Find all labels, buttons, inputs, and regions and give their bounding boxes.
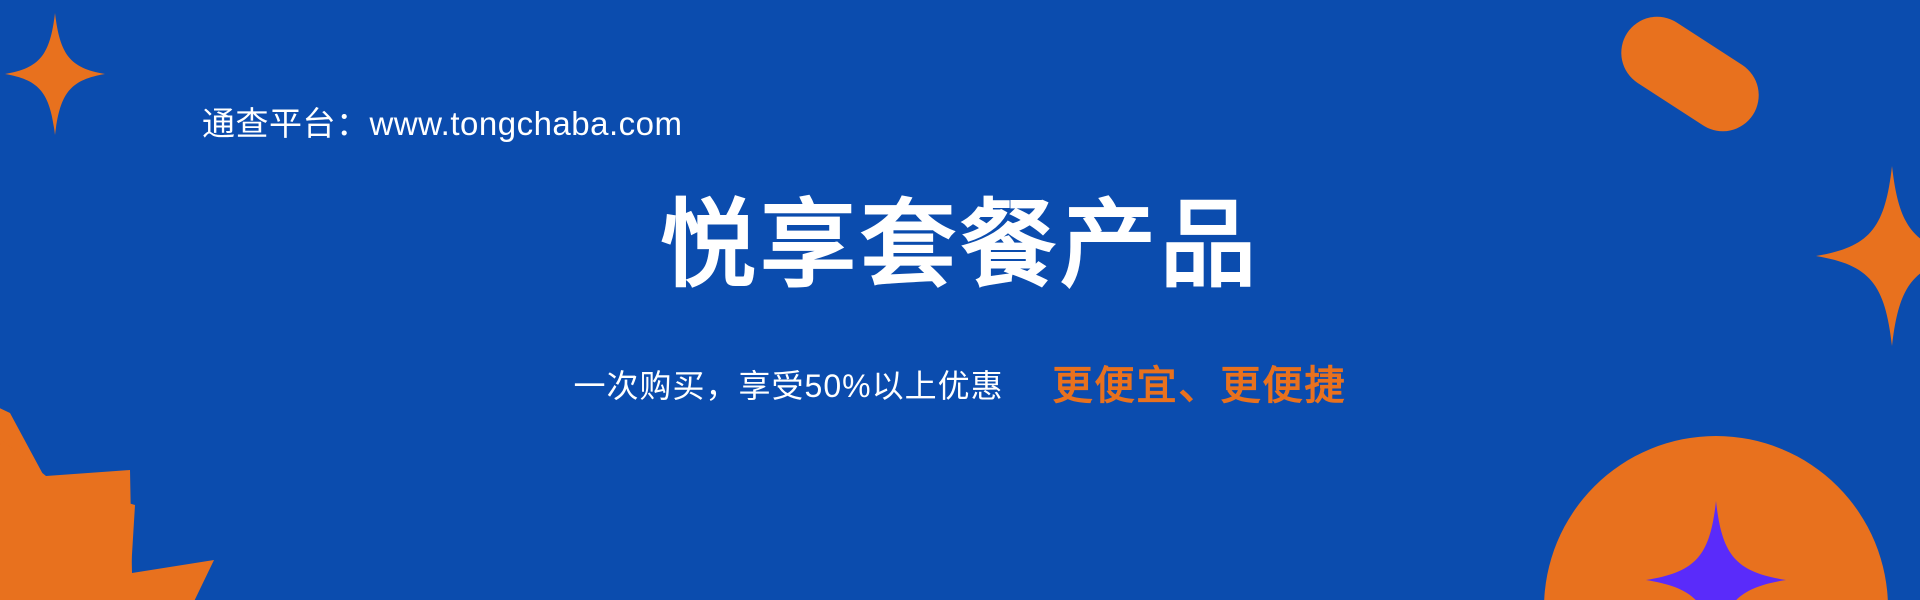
page-title: 悦享套餐产品 [0, 190, 1920, 302]
subtitle-discount-text: 一次购买，享受50%以上优惠 [574, 368, 1004, 404]
subtitle-highlight-text: 更便宜、更便捷 [1052, 364, 1346, 408]
banner-content: 通查平台：www.tongchaba.com 悦享套餐产品 一次购买，享受50%… [0, 0, 1920, 600]
subtitle-row: 一次购买，享受50%以上优惠 更便宜、更便捷 [0, 358, 1920, 414]
platform-url-label: 通查平台：www.tongchaba.com [202, 100, 683, 148]
promotional-banner: 通查平台：www.tongchaba.com 悦享套餐产品 一次购买，享受50%… [0, 0, 1920, 600]
